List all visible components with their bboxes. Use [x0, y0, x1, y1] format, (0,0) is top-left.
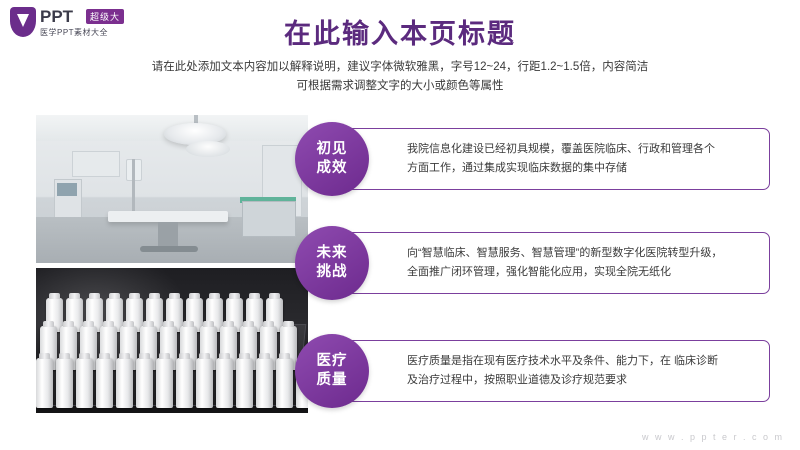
card-badge-2-line-1: 未来 — [317, 244, 348, 263]
photo-instrument-cart — [242, 201, 296, 237]
card-badge-2: 未来 挑战 — [295, 226, 369, 300]
page-subtitle-line-1: 请在此处添加文本内容加以解释说明，建议字体微软雅黑，字号12~24，行距1.2~… — [0, 58, 800, 77]
photo-machine-screen — [57, 183, 77, 196]
content-card-1: 初见 成效 我院信息化建设已经初具规模，覆盖医院临床、行政和管理各个 方面工作，… — [322, 128, 770, 190]
card-text-2-line-2: 全面推广闭环管理，强化智能化应用，实现全院无纸化 — [407, 263, 757, 282]
photo-table-foot — [140, 246, 198, 252]
content-card-2: 未来 挑战 向“智慧临床、智慧服务、智慧管理”的新型数字化医院转型升级， 全面推… — [322, 232, 770, 294]
card-text-1: 我院信息化建设已经初具规模，覆盖医院临床、行政和管理各个 方面工作，通过集成实现… — [407, 140, 757, 178]
card-text-2: 向“智慧临床、智慧服务、智慧管理”的新型数字化医院转型升级， 全面推广闭环管理，… — [407, 244, 757, 282]
bottle-icon — [216, 358, 233, 408]
photo-table-base — [158, 222, 178, 248]
card-text-2-line-1: 向“智慧临床、智慧服务、智慧管理”的新型数字化医院转型升级， — [407, 244, 757, 263]
photo-operating-table — [108, 211, 228, 222]
card-badge-3-line-2: 质量 — [317, 371, 348, 390]
card-text-1-line-1: 我院信息化建设已经初具规模，覆盖医院临床、行政和管理各个 — [407, 140, 757, 159]
card-badge-1: 初见 成效 — [295, 122, 369, 196]
bottle-icon — [236, 358, 253, 408]
site-watermark: w w w . p p t e r . c o m — [642, 432, 784, 442]
medicine-bottles-photo — [36, 268, 308, 413]
card-text-3-line-2: 及治疗过程中，按照职业道德及诊疗规范要求 — [407, 371, 757, 390]
surgical-lamp-secondary — [186, 141, 230, 157]
photo-iv-pole — [132, 159, 135, 215]
card-badge-1-line-1: 初见 — [317, 140, 348, 159]
photo-wall-panel — [72, 151, 120, 177]
bottle-icon — [196, 358, 213, 408]
content-card-3: 医疗 质量 医疗质量是指在现有医疗技术水平及条件、能力下，在 临床诊断 及治疗过… — [322, 340, 770, 402]
photo-light-glow — [36, 268, 186, 368]
page-title: 在此输入本页标题 — [0, 12, 800, 51]
page-subtitle: 请在此处添加文本内容加以解释说明，建议字体微软雅黑，字号12~24，行距1.2~… — [0, 58, 800, 96]
card-text-1-line-2: 方面工作，通过集成实现临床数据的集中存储 — [407, 159, 757, 178]
bottle-icon — [256, 358, 273, 408]
page-subtitle-line-2: 可根据需求调整文字的大小或颜色等属性 — [0, 77, 800, 96]
card-badge-1-line-2: 成效 — [317, 159, 348, 178]
card-text-3: 医疗质量是指在现有医疗技术水平及条件、能力下，在 临床诊断 及治疗过程中，按照职… — [407, 352, 757, 390]
card-badge-2-line-2: 挑战 — [317, 263, 348, 282]
operating-room-photo — [36, 115, 308, 263]
bottle-icon — [276, 358, 293, 408]
card-badge-3: 医疗 质量 — [295, 334, 369, 408]
card-badge-3-line-1: 医疗 — [317, 352, 348, 371]
card-text-3-line-1: 医疗质量是指在现有医疗技术水平及条件、能力下，在 临床诊断 — [407, 352, 757, 371]
